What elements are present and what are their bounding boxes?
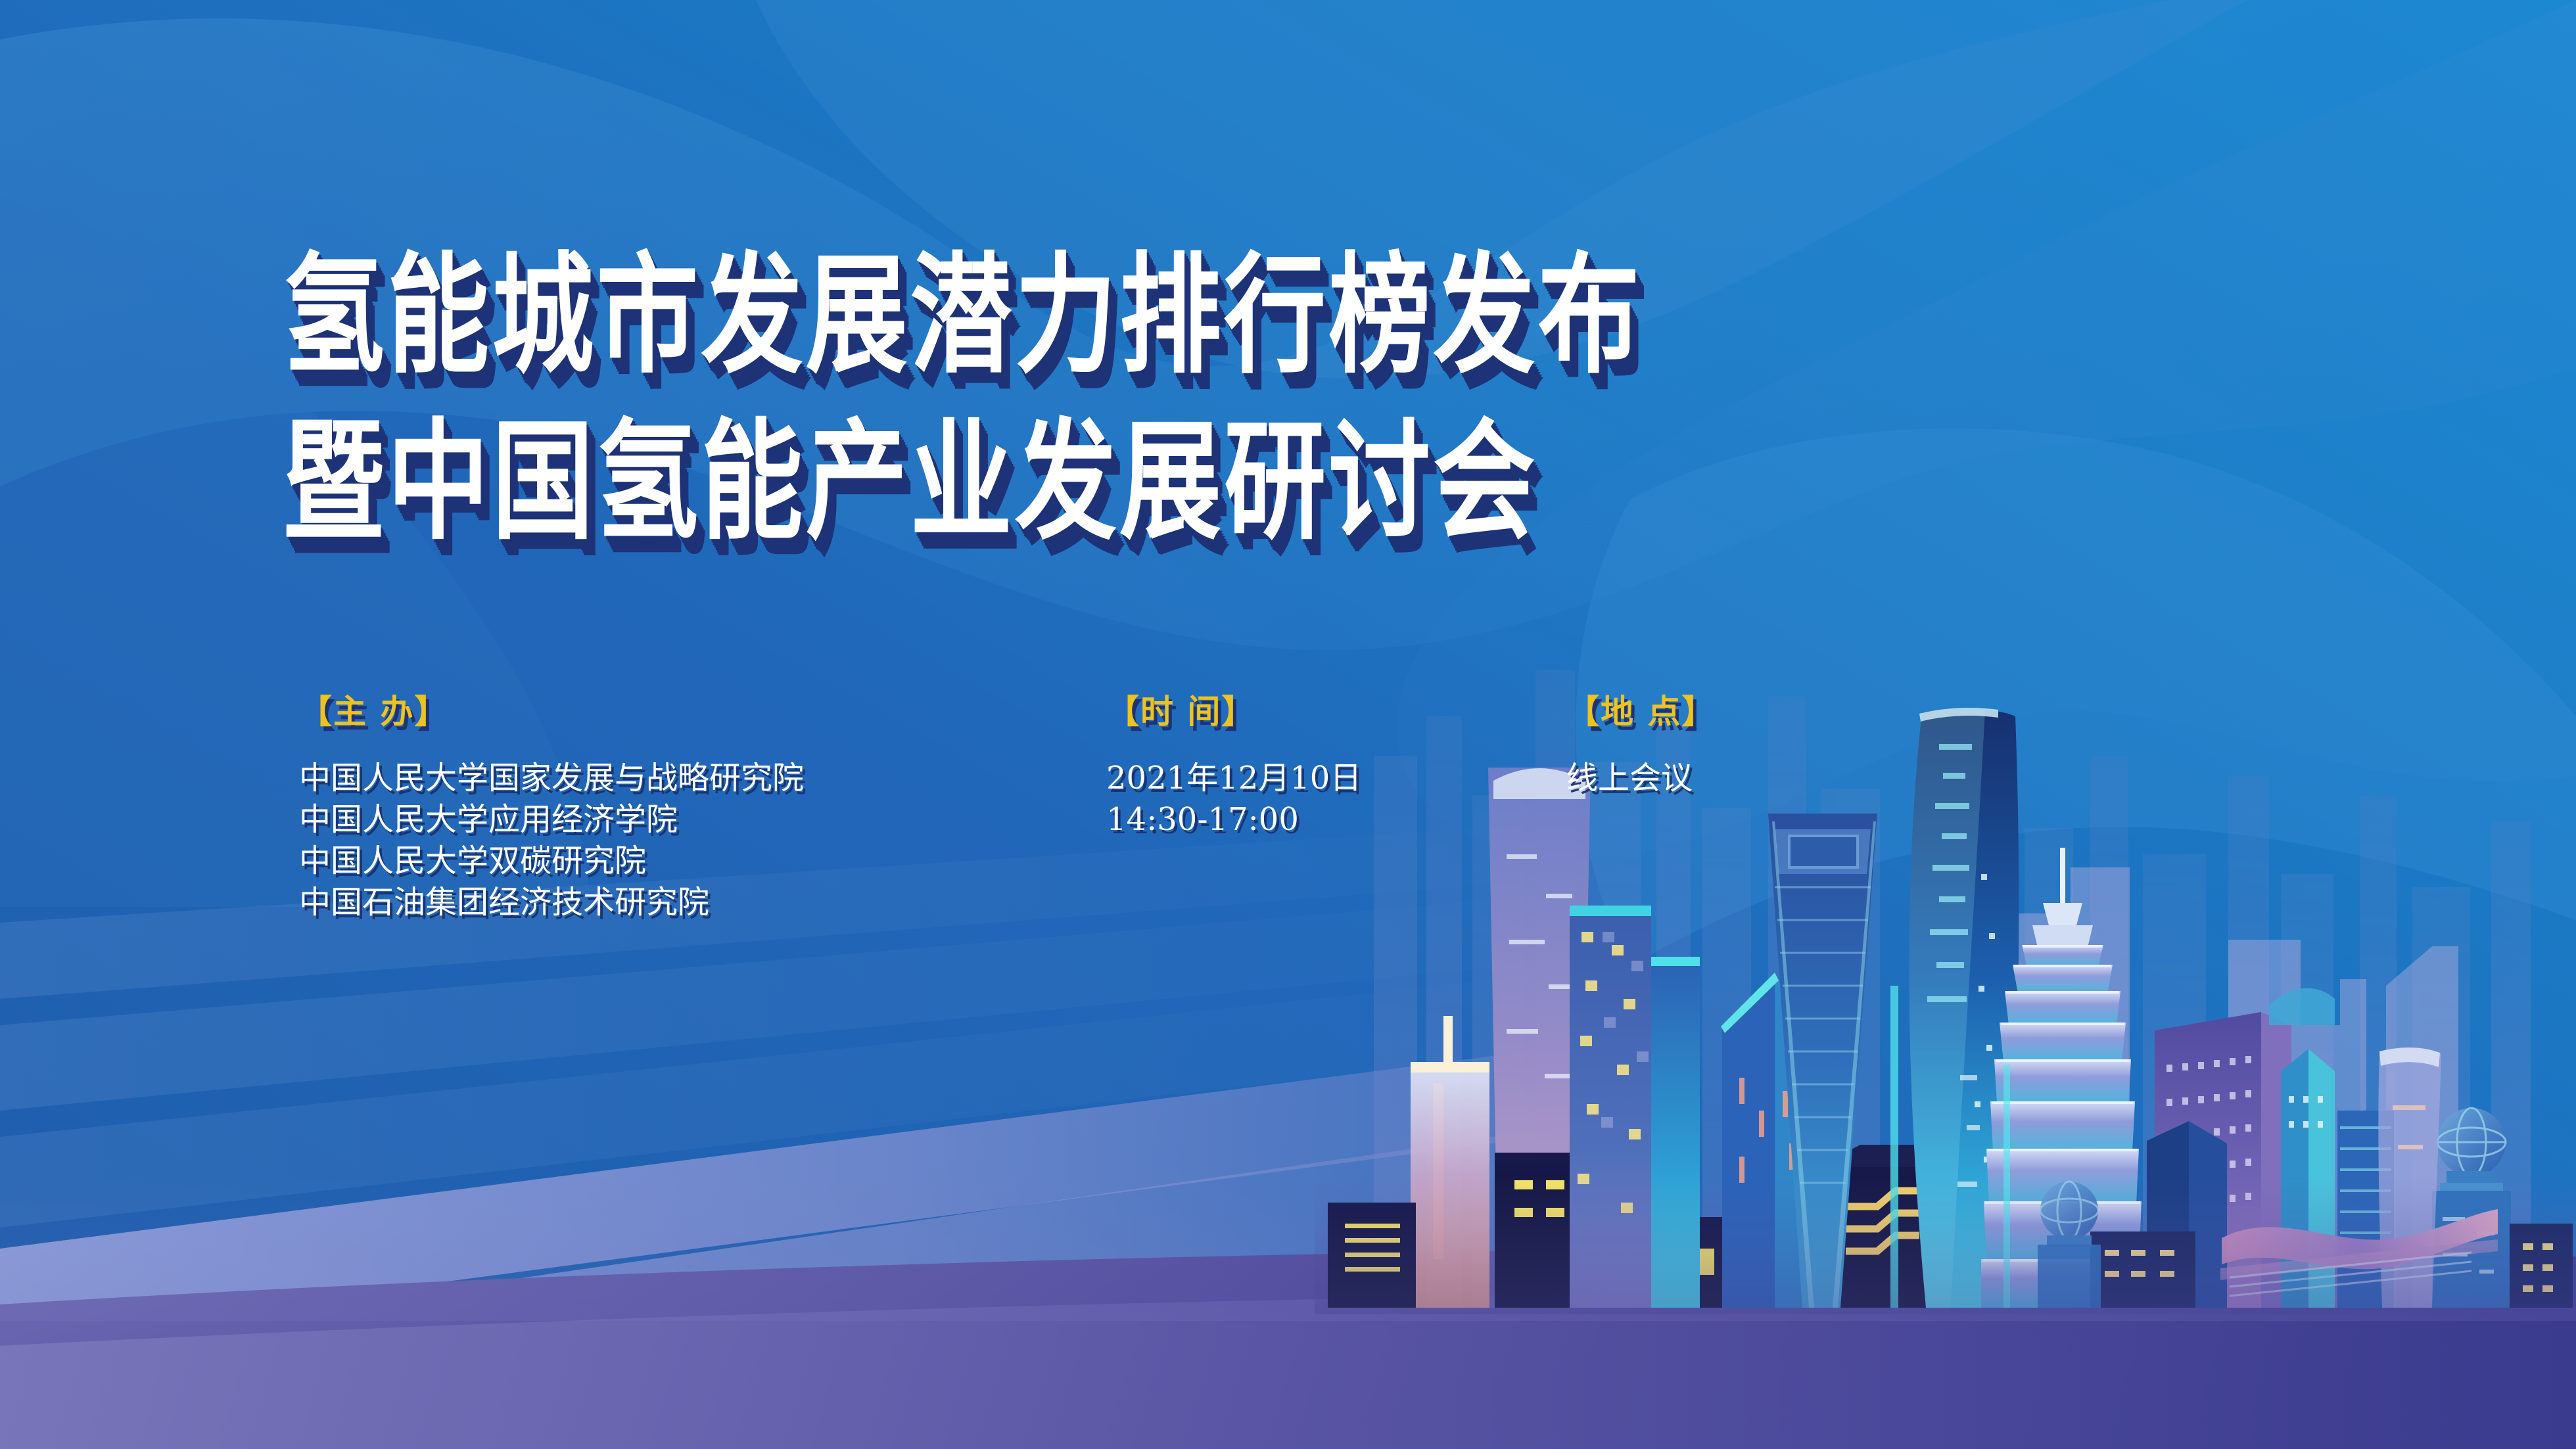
organizer-label: 【主 办】 (299, 685, 804, 733)
poster-title: 氢能城市发展潜力排行榜发布 暨中国氢能产业发展研讨会 (283, 217, 2057, 535)
organizer-list: 中国人民大学国家发展与战略研究院 中国人民大学应用经济学院 中国人民大学双碳研究… (299, 758, 804, 923)
list-item: 中国人民大学双碳研究院 (299, 840, 804, 882)
list-item: 中国人民大学国家发展与战略研究院 (299, 758, 804, 799)
event-date: 2021年12月10日 (1106, 758, 1361, 799)
time-label: 【时 间】 (1106, 685, 1361, 733)
list-item: 中国石油集团经济技术研究院 (299, 882, 804, 923)
conference-banner: 氢能城市发展潜力排行榜发布 暨中国氢能产业发展研讨会 【主 办】 中国人民大学国… (0, 0, 2576, 1449)
event-hours: 14:30-17:00 (1106, 799, 1361, 840)
time-value: 2021年12月10日 14:30-17:00 (1106, 758, 1361, 840)
time-section: 【时 间】 2021年12月10日 14:30-17:00 (1106, 685, 1361, 840)
place-value: 线上会议 (1566, 758, 1716, 799)
list-item: 中国人民大学应用经济学院 (299, 799, 804, 840)
title-line-2: 暨中国氢能产业发展研讨会 (283, 383, 2093, 580)
place-label: 【地 点】 (1566, 685, 1716, 733)
organizer-section: 【主 办】 中国人民大学国家发展与战略研究院 中国人民大学应用经济学院 中国人民… (299, 685, 804, 923)
place-section: 【地 点】 线上会议 (1566, 685, 1716, 799)
event-venue: 线上会议 (1566, 758, 1716, 799)
